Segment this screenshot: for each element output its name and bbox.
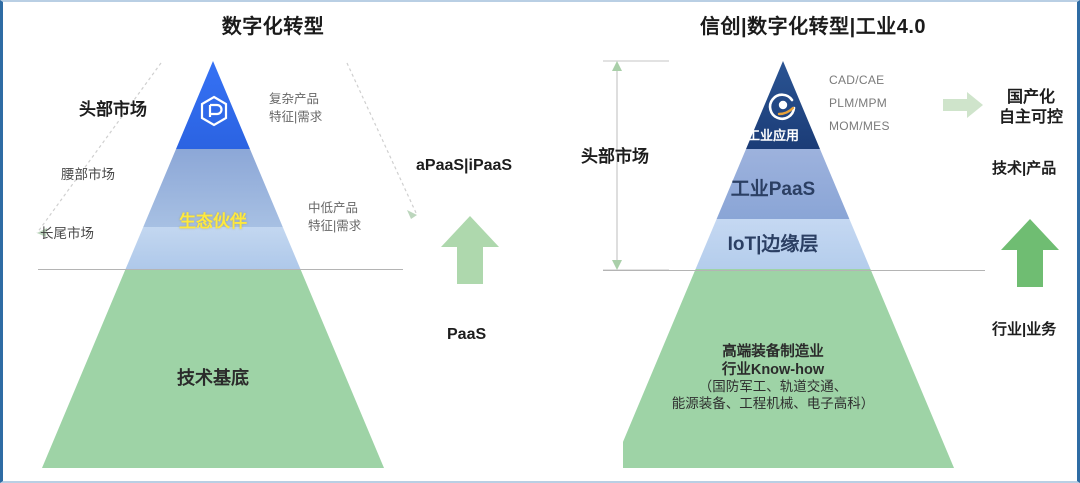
right-band-lower-mid bbox=[623, 219, 963, 269]
right-band-upper-mid bbox=[623, 149, 963, 219]
right-base-text-line-4: 能源装备、工程机械、电子高科） bbox=[623, 396, 923, 413]
right-base-text-block: 高端装备制造业 行业Know-how （国防军工、轨道交通、 能源装备、工程机械… bbox=[623, 343, 923, 413]
right-side-label-localization-line2: 自主可控 bbox=[991, 108, 1071, 128]
right-side-label-localization: 国产化 自主可控 bbox=[991, 88, 1071, 128]
right-base-text-line-2: 行业Know-how bbox=[623, 361, 923, 379]
right-tech-list-item-2: MOM/MES bbox=[829, 115, 890, 138]
right-side-label-industry-business: 行业|业务 bbox=[992, 321, 1056, 340]
page-title-left: 数字化转型 bbox=[3, 10, 543, 39]
right-base-text-line-1: 高端装备制造业 bbox=[623, 343, 923, 361]
right-side-label-tech-product: 技术|产品 bbox=[992, 160, 1056, 179]
left-feature-note-midlow: 中低产品 特征|需求 bbox=[308, 199, 361, 235]
up-arrow-icon-right bbox=[999, 217, 1061, 289]
up-arrow-icon bbox=[439, 214, 501, 286]
left-band-base bbox=[33, 270, 393, 472]
left-side-label-apaas: aPaaS|iPaaS bbox=[416, 156, 512, 176]
right-base-text-line-3: （国防军工、轨道交通、 bbox=[623, 379, 923, 396]
left-feature-note-complex: 复杂产品 特征|需求 bbox=[269, 90, 322, 126]
right-side-label-localization-line1: 国产化 bbox=[991, 88, 1071, 108]
swoosh-circle-icon bbox=[765, 90, 799, 124]
left-side-label-paas: PaaS bbox=[447, 325, 486, 345]
left-feature-note-complex-line1: 复杂产品 bbox=[269, 90, 322, 108]
left-feature-note-midlow-line2: 特征|需求 bbox=[308, 217, 361, 235]
left-feature-note-midlow-line1: 中低产品 bbox=[308, 199, 361, 217]
slide-canvas: 数字化转型 信创|数字化转型|工业4.0 bbox=[0, 0, 1080, 483]
page-title-right: 信创|数字化转型|工业4.0 bbox=[543, 10, 1080, 39]
right-tech-list: CAD/CAE PLM/MPM MOM/MES bbox=[829, 69, 890, 137]
right-baseline-separator bbox=[603, 270, 985, 271]
right-tech-list-item-0: CAD/CAE bbox=[829, 69, 890, 92]
left-feature-note-complex-line2: 特征|需求 bbox=[269, 108, 322, 126]
hexagon-logo-icon bbox=[199, 95, 229, 127]
left-market-label-head: 头部市场 bbox=[79, 99, 147, 120]
right-arrow-icon bbox=[941, 90, 985, 120]
left-market-label-tail: 长尾市场 bbox=[40, 226, 94, 243]
right-tech-list-item-1: PLM/MPM bbox=[829, 92, 890, 115]
left-baseline-separator bbox=[38, 269, 403, 270]
left-market-label-mid: 腰部市场 bbox=[61, 167, 115, 184]
